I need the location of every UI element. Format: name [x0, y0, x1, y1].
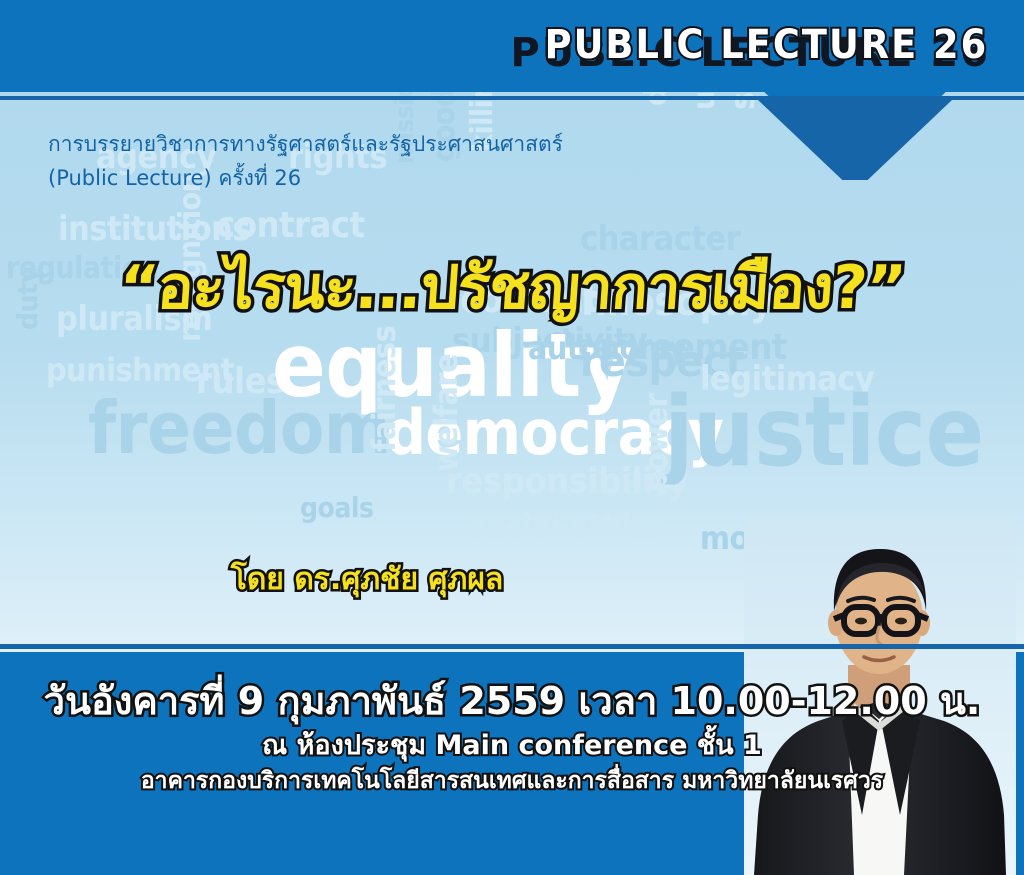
footer-date-time: วันอังคารที่ 9 กุมภาพันธ์ 2559 เวลา 10.0…: [0, 680, 1024, 724]
footer-block: วันอังคารที่ 9 กุมภาพันธ์ 2559 เวลา 10.0…: [0, 680, 1024, 797]
word-cloud-term: power: [640, 394, 672, 492]
bottom-divider: [0, 644, 1024, 649]
sub-heading: การบรรยายวิชาการทางรัฐศาสตร์และรัฐประศาส…: [48, 128, 563, 195]
footer-venue-building: อาคารกองบริการเทคโนโลยีสารสนเทศและการสื่…: [0, 767, 1024, 797]
word-cloud-term: freedom: [88, 392, 391, 464]
word-cloud-term: contract: [216, 208, 365, 244]
word-cloud-term: fairness: [368, 326, 400, 452]
word-cloud-term: social ethics: [470, 510, 665, 542]
word-cloud-term: justice: [664, 384, 984, 480]
word-cloud-term: sanctions: [726, 92, 760, 110]
word-cloud-term: welfare: [430, 354, 462, 472]
word-cloud-term: goals: [300, 494, 373, 522]
word-cloud-term: utility: [690, 92, 720, 110]
footer-venue-room: ณ ห้องประชุม Main conference ชั้น 1: [0, 728, 1024, 763]
header-title: PUBLIC LECTURE 26: [545, 22, 989, 68]
poster-root: agencyinstitutionsregulationpluralismpun…: [0, 0, 1024, 875]
page-title: “อะไรนะ...ปรัชญาการเมือง?”: [0, 240, 1024, 335]
word-cloud-term: desert: [642, 92, 672, 106]
